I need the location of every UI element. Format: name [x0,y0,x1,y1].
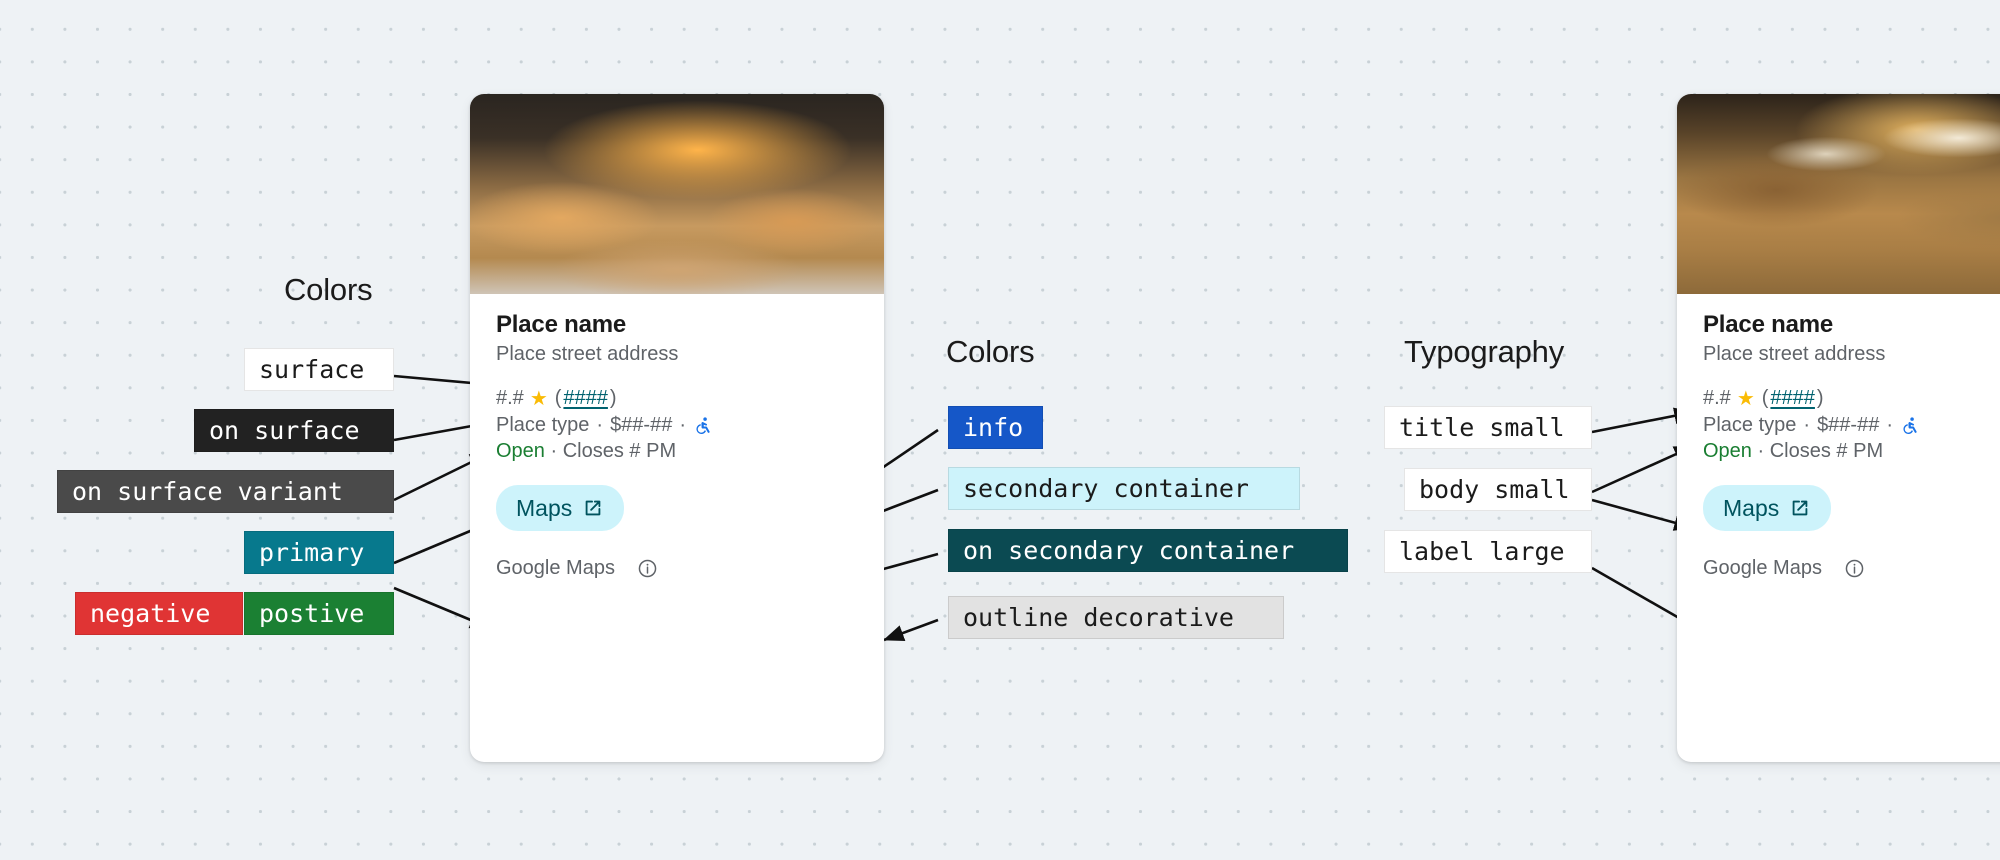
token-chip-label: body small [1419,477,1570,502]
place-card-center[interactable]: Place name Place street address #.# ★ ( … [470,94,884,762]
attribution-label: Google Maps [1703,557,1822,580]
token-chip-info[interactable]: info [948,406,1043,449]
place-photo-cafe [1677,94,2000,294]
token-chip-title-small[interactable]: title small [1384,406,1592,449]
token-chip-label: postive [259,601,364,626]
rating-row: #.# ★ ( #### ) [496,386,858,411]
token-chip-secondary-container[interactable]: secondary container [948,467,1300,510]
place-card-footer: Google Maps [1677,531,2000,602]
place-name: Place name [1703,310,2000,340]
token-chip-body-small[interactable]: body small [1404,468,1592,511]
paren-open: ( [555,387,562,410]
token-chip-primary[interactable]: primary [244,531,394,574]
token-chip-label: on surface [209,418,360,443]
token-chip-label-large[interactable]: label large [1384,530,1592,573]
token-chip-positive[interactable]: postive [244,592,394,635]
token-chip-label: outline decorative [963,605,1234,630]
token-chip-label: primary [259,540,364,565]
place-type: Place type [1703,414,1796,437]
paren-close: ) [610,387,617,410]
external-link-icon [582,497,604,519]
token-chip-label: secondary container [963,476,1249,501]
rating-row: #.# ★ ( #### ) [1703,386,2000,411]
place-meta-row: Place type · $##-## · [1703,414,2000,437]
token-chip-label: on secondary container [963,538,1294,563]
token-chip-label: title small [1399,415,1565,440]
token-chip-on-secondary-container[interactable]: on secondary container [948,529,1348,572]
place-card-footer: Google Maps [470,531,884,602]
meta-separator-1: · [596,414,603,437]
paren-open: ( [1762,387,1769,410]
place-card-body: Place name Place street address #.# ★ ( … [470,294,884,531]
rating-value: #.# [1703,387,1731,410]
place-hours-row: Open · Closes # PM [496,440,858,463]
wheelchair-accessible-icon [693,416,713,436]
place-card-body: Place name Place street address #.# ★ ( … [1677,294,2000,531]
token-chip-negative[interactable]: negative [75,592,243,635]
rating-value: #.# [496,387,524,410]
paren-close: ) [1817,387,1824,410]
section-heading-typography: Typography [1404,334,1564,370]
place-address: Place street address [496,341,858,368]
meta-separator-2: · [1886,414,1893,437]
place-address: Place street address [1703,341,2000,368]
place-type: Place type [496,414,589,437]
info-circle-icon[interactable] [1844,558,1865,579]
token-chip-label: surface [259,357,364,382]
open-status: Open [496,440,545,462]
open-status: Open [1703,440,1752,462]
wheelchair-accessible-icon [1900,416,1920,436]
meta-separator-1: · [1803,414,1810,437]
hours-separator: · [551,440,558,462]
maps-button-label: Maps [516,495,572,522]
price-range: $##-## [610,414,672,437]
hours-separator: · [1758,440,1765,462]
closing-time: Closes # PM [1770,440,1883,462]
review-count-link[interactable]: #### [563,387,608,410]
meta-separator-2: · [679,414,686,437]
place-photo-bakery [470,94,884,294]
token-chip-on-surface[interactable]: on surface [194,409,394,452]
maps-button-label: Maps [1723,495,1779,522]
star-icon: ★ [530,386,548,411]
review-count-link[interactable]: #### [1770,387,1815,410]
attribution-label: Google Maps [496,557,615,580]
place-meta-row: Place type · $##-## · [496,414,858,437]
section-heading-colors-left: Colors [284,272,372,308]
closing-time: Closes # PM [563,440,676,462]
canvas: Colors surface on surface on surface var… [0,0,2000,860]
info-circle-icon[interactable] [637,558,658,579]
token-chip-label: negative [90,601,210,626]
token-chip-surface[interactable]: surface [244,348,394,391]
maps-button[interactable]: Maps [1703,485,1831,531]
token-chip-label: label large [1399,539,1565,564]
token-chip-outline-decorative[interactable]: outline decorative [948,596,1284,639]
star-icon: ★ [1737,386,1755,411]
place-name: Place name [496,310,858,340]
place-card-right[interactable]: Place name Place street address #.# ★ ( … [1677,94,2000,762]
token-chip-label: on surface variant [72,479,343,504]
external-link-icon [1789,497,1811,519]
token-chip-on-surface-variant[interactable]: on surface variant [57,470,394,513]
token-chip-label: info [963,415,1023,440]
section-heading-colors-mid: Colors [946,334,1034,370]
place-hours-row: Open · Closes # PM [1703,440,2000,463]
maps-button[interactable]: Maps [496,485,624,531]
price-range: $##-## [1817,414,1879,437]
